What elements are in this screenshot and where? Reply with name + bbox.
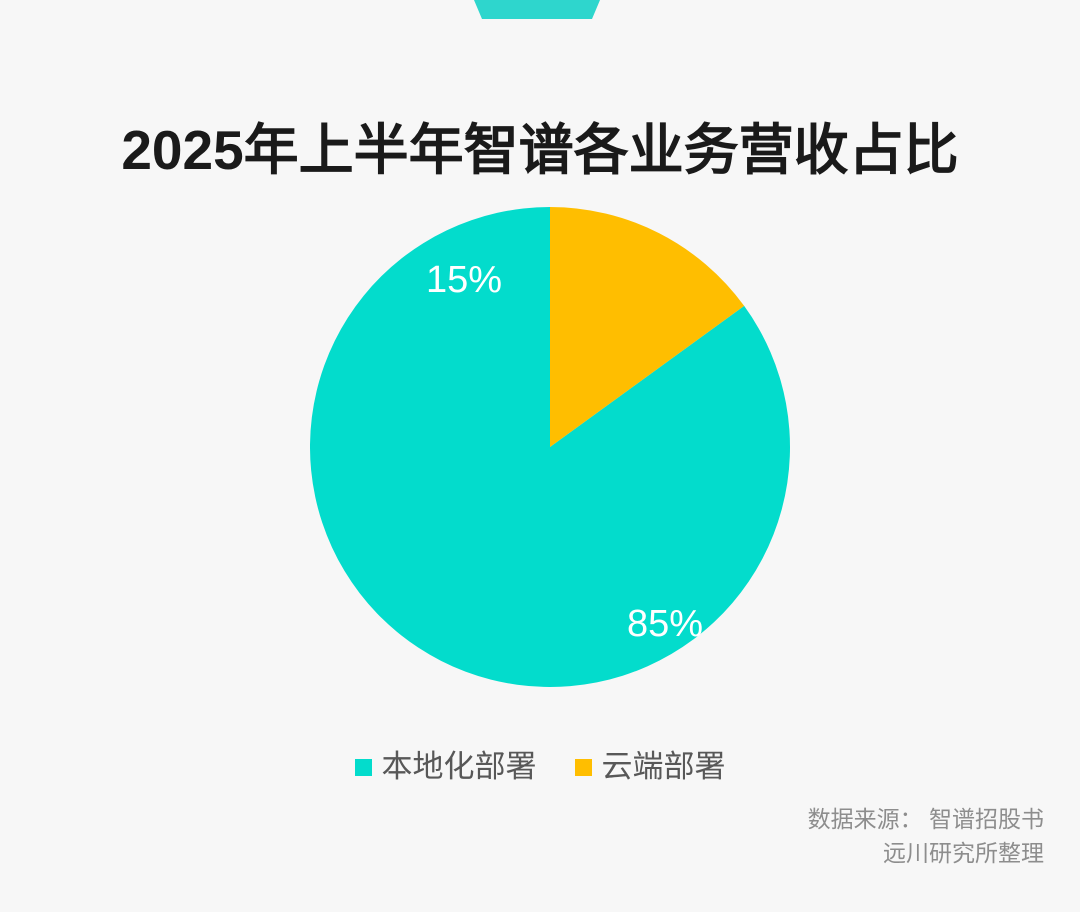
top-accent-bar-shape: [474, 0, 600, 19]
top-accent-bar: [474, 0, 600, 19]
legend-swatch-icon-local-deployment: [355, 759, 372, 776]
legend-item-local-deployment[interactable]: 本地化部署: [355, 750, 537, 784]
pie-chart-svg: 85% 15%: [310, 207, 790, 687]
legend-label-local-deployment: 本地化部署: [382, 750, 537, 784]
source-note-line-2: 远川研究所整理: [808, 836, 1044, 870]
legend-label-cloud-deployment: 云端部署: [602, 750, 726, 784]
pie-slice-label-cloud-deployment: 15%: [426, 259, 502, 301]
chart-legend: 本地化部署 云端部署: [0, 750, 1080, 784]
source-note-line-1: 数据来源： 智谱招股书: [808, 802, 1044, 836]
pie-slices: [310, 207, 790, 687]
legend-swatch-icon-cloud-deployment: [575, 759, 592, 776]
page-title: 2025年上半年智谱各业务营收占比: [0, 117, 1080, 183]
source-note: 数据来源： 智谱招股书 远川研究所整理: [808, 802, 1044, 870]
legend-item-cloud-deployment[interactable]: 云端部署: [575, 750, 726, 784]
pie-chart: 85% 15%: [310, 207, 790, 687]
pie-slice-label-local-deployment: 85%: [627, 603, 703, 645]
